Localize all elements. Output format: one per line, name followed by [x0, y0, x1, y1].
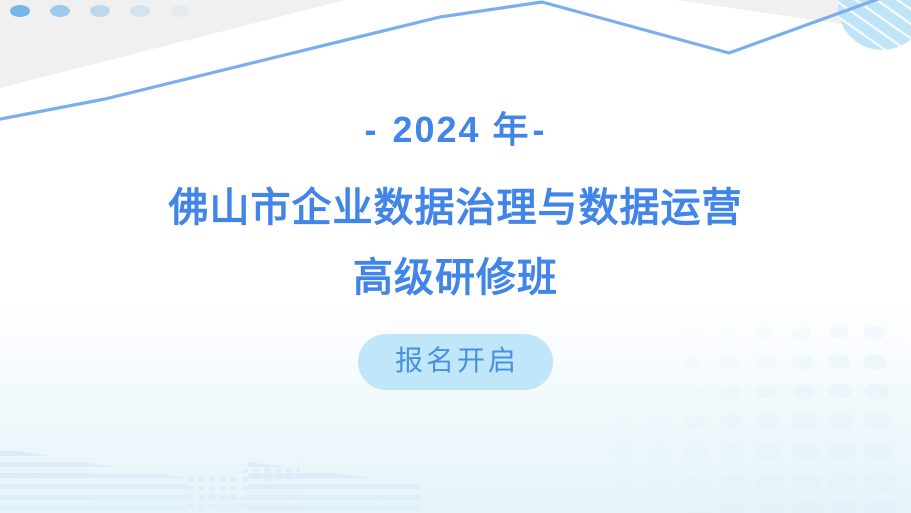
year-dash-right: - [531, 109, 549, 150]
poster-content: - 2024 年- 佛山市企业数据治理与数据运营 高级研修班 报名开启 [0, 0, 911, 390]
poster-canvas: - 2024 年- 佛山市企业数据治理与数据运营 高级研修班 报名开启 [0, 0, 911, 513]
poster-title-line-1: 佛山市企业数据治理与数据运营 [169, 186, 743, 230]
poster-title-line-2: 高级研修班 [353, 256, 558, 300]
year-dash-left: - [362, 109, 380, 150]
registration-open-button[interactable]: 报名开启 [358, 334, 553, 390]
year-value: 2024 年 [392, 109, 530, 150]
year-heading: - 2024 年- [362, 112, 548, 148]
